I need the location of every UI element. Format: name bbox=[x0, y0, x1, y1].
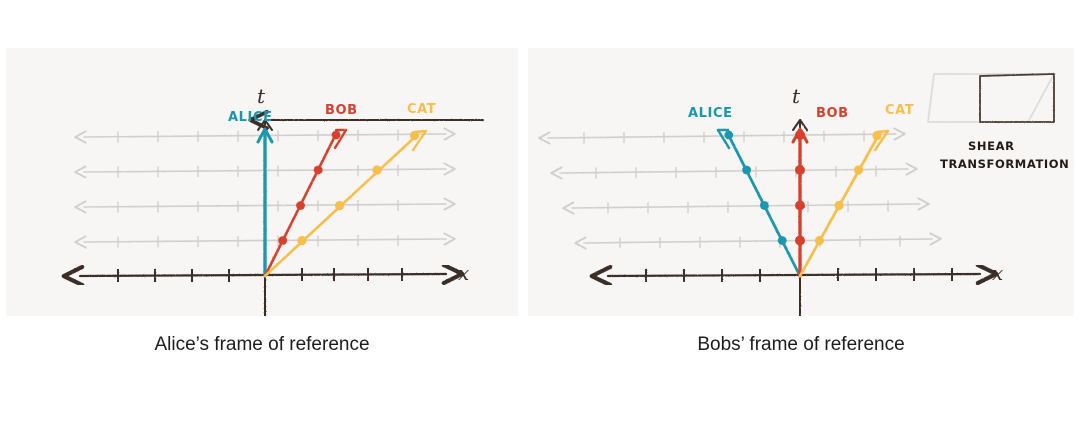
simultaneity-grid bbox=[548, 131, 932, 249]
event-dot bbox=[742, 166, 751, 175]
event-dot bbox=[314, 166, 323, 175]
x-axis bbox=[608, 268, 980, 282]
worldline-label-bob: BOB bbox=[816, 106, 849, 121]
event-dot bbox=[795, 201, 805, 211]
caption-bob-frame: Bobs’ frame of reference bbox=[528, 330, 1074, 360]
caption-alice-frame: Alice’s frame of reference bbox=[6, 330, 518, 360]
worldline-cat bbox=[265, 131, 426, 276]
x-axis bbox=[80, 268, 446, 282]
event-dot bbox=[296, 201, 305, 210]
axis-label-x: x bbox=[992, 261, 1003, 285]
grid-line bbox=[572, 201, 920, 214]
worldline-label-alice: ALICE bbox=[688, 106, 733, 121]
event-dot bbox=[834, 201, 843, 210]
shear-parallelogram-icon bbox=[928, 74, 1054, 122]
event-dot bbox=[332, 131, 341, 140]
worldline-alice bbox=[718, 130, 800, 276]
shear-label-line2: TRANSFORMATION bbox=[940, 157, 1069, 171]
axis-label-x: x bbox=[458, 261, 469, 285]
alice-frame-plot: ALICE BOB CAT t x bbox=[6, 48, 518, 316]
event-dot bbox=[872, 131, 881, 140]
axis-label-t: t bbox=[257, 84, 266, 108]
event-dot bbox=[372, 165, 381, 174]
event-dot bbox=[760, 201, 769, 210]
shear-label-line1: SHEAR bbox=[968, 139, 1015, 153]
worldline-label-bob: BOB bbox=[325, 103, 358, 118]
axis-label-t: t bbox=[792, 84, 801, 108]
grid-line bbox=[584, 236, 932, 249]
worldline-label-cat: CAT bbox=[885, 103, 914, 118]
event-dot bbox=[795, 130, 805, 140]
event-dot bbox=[778, 236, 787, 245]
event-dot bbox=[297, 236, 306, 245]
panel-bob-frame: ALICE BOB CAT t x SHEAR TRANSFORMATION bbox=[528, 48, 1074, 316]
worldline-bob bbox=[265, 130, 346, 276]
t-axis bbox=[258, 120, 483, 316]
shear-transformation-annotation: SHEAR TRANSFORMATION bbox=[928, 74, 1069, 171]
event-dot bbox=[795, 165, 805, 175]
event-dot bbox=[795, 236, 805, 246]
event-dot bbox=[854, 165, 863, 174]
panel-alice-frame: ALICE BOB CAT t x bbox=[6, 48, 518, 316]
bob-frame-plot: ALICE BOB CAT t x SHEAR TRANSFORMATION bbox=[528, 48, 1074, 316]
event-dot bbox=[410, 131, 419, 140]
event-dot bbox=[815, 236, 824, 245]
worldline-alice bbox=[258, 129, 272, 276]
worldline-label-alice: ALICE bbox=[228, 110, 273, 125]
worldline-cat bbox=[800, 131, 888, 276]
event-dot bbox=[724, 131, 733, 140]
worldline-bob bbox=[793, 129, 807, 276]
spacetime-figure: ALICE BOB CAT t x bbox=[0, 0, 1080, 421]
event-dot bbox=[335, 201, 344, 210]
worldline-label-cat: CAT bbox=[407, 102, 436, 117]
event-dot bbox=[278, 236, 287, 245]
